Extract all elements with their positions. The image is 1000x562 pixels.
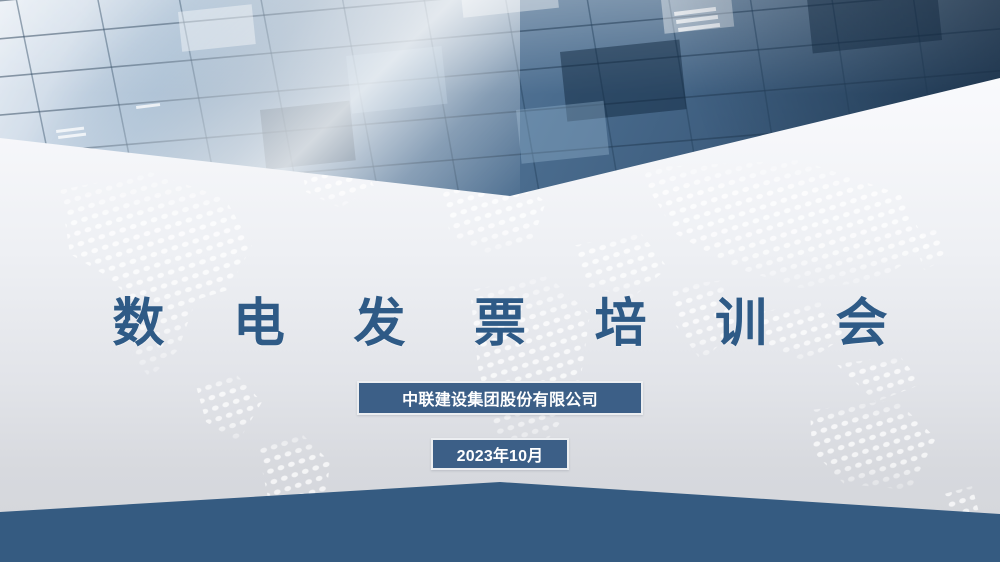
page-title: 数 电 发 票 培 训 会 xyxy=(0,296,1000,353)
date-box: 2023年10月 xyxy=(431,438,569,470)
company-name-box: 中联建设集团股份有限公司 xyxy=(357,381,643,415)
presentation-slide: 数 电 发 票 培 训 会 中联建设集团股份有限公司 2023年10月 xyxy=(0,0,1000,562)
